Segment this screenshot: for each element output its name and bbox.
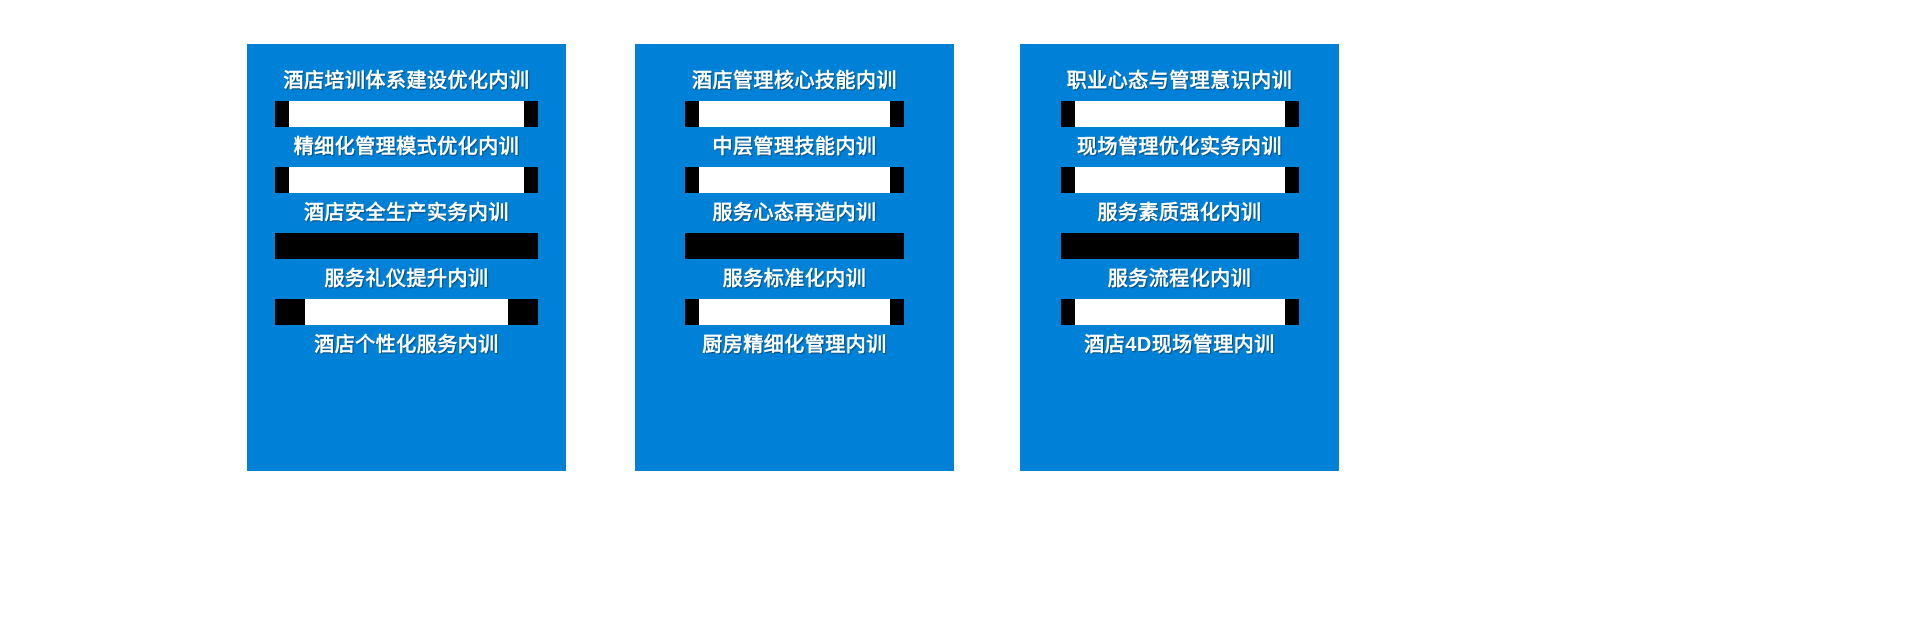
divider-cap-left bbox=[275, 101, 289, 127]
divider-middle bbox=[699, 101, 890, 127]
divider-cap-right bbox=[508, 299, 538, 325]
course-title: 酒店个性化服务内训 bbox=[247, 325, 566, 365]
divider-cap-left bbox=[685, 167, 699, 193]
divider-middle bbox=[1061, 233, 1299, 259]
divider-cap-left bbox=[685, 101, 699, 127]
divider-middle bbox=[685, 233, 904, 259]
divider-middle bbox=[1075, 167, 1285, 193]
divider-bar bbox=[685, 167, 904, 193]
course-title: 酒店4D现场管理内训 bbox=[1020, 325, 1339, 365]
divider-cap-left bbox=[1061, 299, 1075, 325]
course-column-3: 职业心态与管理意识内训 现场管理优化实务内训 服务素质强化内训 服务流程化内训 … bbox=[1020, 44, 1339, 471]
divider-bar bbox=[275, 299, 538, 325]
course-title: 现场管理优化实务内训 bbox=[1020, 127, 1339, 167]
divider-cap-right bbox=[890, 299, 904, 325]
course-title: 服务流程化内训 bbox=[1020, 259, 1339, 299]
slide-canvas: 酒店培训体系建设优化内训 精细化管理模式优化内训 酒店安全生产实务内训 服务礼仪… bbox=[0, 0, 1920, 639]
divider-cap-right bbox=[890, 101, 904, 127]
divider-bar bbox=[275, 101, 538, 127]
divider-middle bbox=[699, 167, 890, 193]
course-title: 酒店培训体系建设优化内训 bbox=[247, 61, 566, 101]
divider-cap-right bbox=[1285, 167, 1299, 193]
course-title: 厨房精细化管理内训 bbox=[635, 325, 954, 365]
divider-bar bbox=[685, 299, 904, 325]
divider-middle bbox=[289, 101, 524, 127]
divider-bar bbox=[275, 233, 538, 259]
course-title: 职业心态与管理意识内训 bbox=[1020, 61, 1339, 101]
divider-bar bbox=[1061, 167, 1299, 193]
course-column-1: 酒店培训体系建设优化内训 精细化管理模式优化内训 酒店安全生产实务内训 服务礼仪… bbox=[247, 44, 566, 471]
divider-middle bbox=[1075, 299, 1285, 325]
divider-cap-right bbox=[890, 167, 904, 193]
divider-cap-left bbox=[275, 299, 305, 325]
course-title: 服务素质强化内训 bbox=[1020, 193, 1339, 233]
course-title: 精细化管理模式优化内训 bbox=[247, 127, 566, 167]
divider-cap-left bbox=[1061, 167, 1075, 193]
divider-bar bbox=[275, 167, 538, 193]
course-column-2: 酒店管理核心技能内训 中层管理技能内训 服务心态再造内训 服务标准化内训 厨房精… bbox=[635, 44, 954, 471]
divider-bar bbox=[685, 101, 904, 127]
divider-cap-right bbox=[1285, 299, 1299, 325]
course-title: 服务礼仪提升内训 bbox=[247, 259, 566, 299]
divider-middle bbox=[699, 299, 890, 325]
divider-cap-left bbox=[275, 167, 289, 193]
divider-cap-left bbox=[685, 299, 699, 325]
divider-middle bbox=[305, 299, 508, 325]
course-title: 酒店管理核心技能内训 bbox=[635, 61, 954, 101]
course-title: 酒店安全生产实务内训 bbox=[247, 193, 566, 233]
divider-cap-right bbox=[524, 167, 538, 193]
divider-cap-left bbox=[1061, 101, 1075, 127]
divider-bar bbox=[685, 233, 904, 259]
course-title: 服务标准化内训 bbox=[635, 259, 954, 299]
divider-bar bbox=[1061, 233, 1299, 259]
divider-cap-right bbox=[1285, 101, 1299, 127]
divider-middle bbox=[275, 233, 538, 259]
course-title: 服务心态再造内训 bbox=[635, 193, 954, 233]
divider-bar bbox=[1061, 299, 1299, 325]
divider-middle bbox=[289, 167, 524, 193]
divider-cap-right bbox=[524, 101, 538, 127]
divider-middle bbox=[1075, 101, 1285, 127]
divider-bar bbox=[1061, 101, 1299, 127]
course-title: 中层管理技能内训 bbox=[635, 127, 954, 167]
